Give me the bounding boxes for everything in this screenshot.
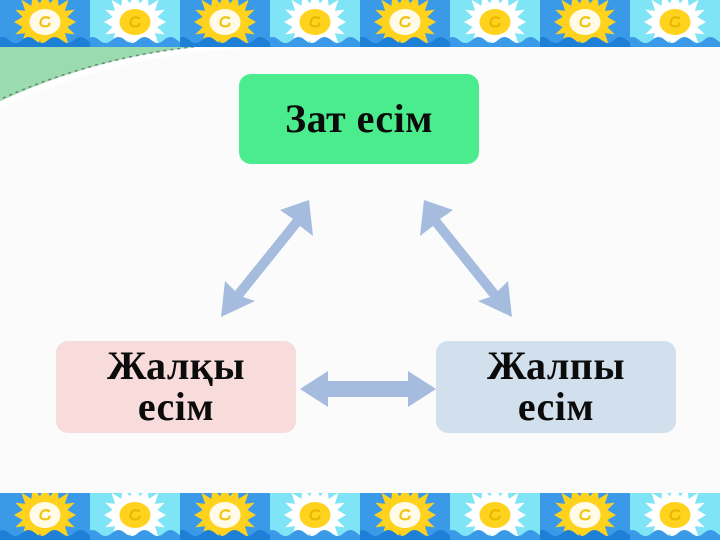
- wave-icon: [270, 34, 360, 47]
- wave-icon: [450, 34, 540, 47]
- border-tile: [450, 0, 540, 47]
- diagonal-double-arrow-right: [398, 196, 528, 321]
- concept-node-zhalqy-esim[interactable]: Жалқы есім: [56, 341, 296, 433]
- slide-canvas: Зат есім Жалқы есім Жалпы есім: [0, 0, 720, 540]
- border-tile: [630, 0, 720, 47]
- border-tile: [360, 0, 450, 47]
- concept-node-label-group: Жалқы есім: [107, 346, 245, 428]
- concept-node-label-line2: есім: [487, 387, 625, 428]
- wave-icon: [90, 527, 180, 540]
- wave-icon: [540, 527, 630, 540]
- border-tile: [450, 493, 540, 540]
- wave-icon: [0, 527, 90, 540]
- concept-node-zhalpy-esim[interactable]: Жалпы есім: [436, 341, 676, 433]
- concept-node-label-line1: Жалқы: [107, 346, 245, 387]
- concept-node-label-line2: есім: [107, 387, 245, 428]
- wave-icon: [0, 34, 90, 47]
- wave-icon: [630, 527, 720, 540]
- wave-icon: [540, 34, 630, 47]
- wave-icon: [180, 34, 270, 47]
- border-tile: [180, 0, 270, 47]
- border-tile: [90, 493, 180, 540]
- concept-node-label: Зат есім: [285, 99, 433, 140]
- wave-icon: [360, 527, 450, 540]
- diagonal-double-arrow-left: [205, 196, 335, 321]
- concept-node-zat-esim[interactable]: Зат есім: [239, 74, 479, 164]
- border-tile: [90, 0, 180, 47]
- bottom-sun-wave-border: [0, 493, 720, 540]
- border-tile: [270, 493, 360, 540]
- border-tile: [360, 493, 450, 540]
- wave-icon: [360, 34, 450, 47]
- top-sun-wave-border: [0, 0, 720, 47]
- border-tile: [0, 493, 90, 540]
- border-tile: [630, 493, 720, 540]
- border-tile: [270, 0, 360, 47]
- border-tile: [540, 0, 630, 47]
- border-tile: [540, 493, 630, 540]
- horizontal-double-arrow: [300, 366, 436, 412]
- wave-icon: [450, 527, 540, 540]
- border-tile: [0, 0, 90, 47]
- wave-icon: [270, 527, 360, 540]
- wave-icon: [90, 34, 180, 47]
- wave-icon: [180, 527, 270, 540]
- concept-node-label-group: Жалпы есім: [487, 346, 625, 428]
- border-tile: [180, 493, 270, 540]
- concept-node-label-line1: Жалпы: [487, 346, 625, 387]
- wave-icon: [630, 34, 720, 47]
